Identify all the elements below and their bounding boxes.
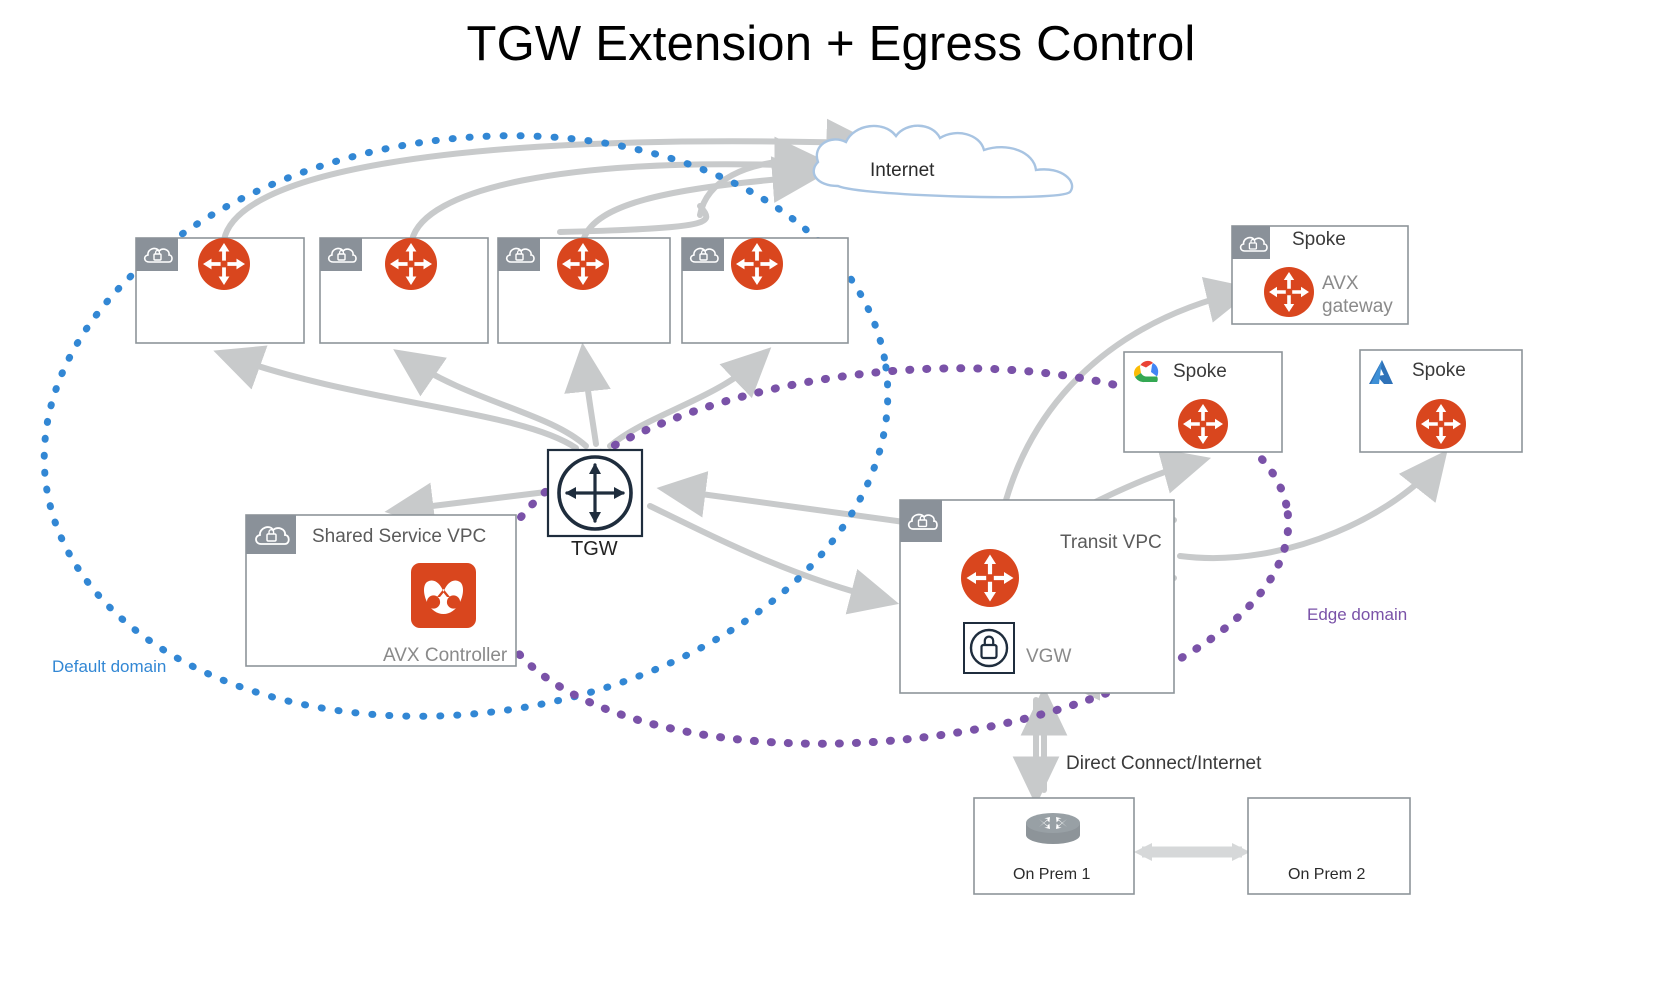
egress-vpc-2[interactable] (320, 238, 488, 343)
egress-vpc-1[interactable] (136, 238, 304, 343)
diagram-canvas: TGW Extension + Egress Control (0, 0, 1662, 984)
transit-vpc-title: Transit VPC (1060, 532, 1162, 554)
avx-gateway-icon[interactable] (385, 238, 437, 290)
avx-gateway-icon[interactable] (1178, 399, 1228, 449)
spoke-azure-title: Spoke (1412, 360, 1466, 382)
spoke-gcp-title: Spoke (1173, 361, 1227, 383)
edge-domain-label: Edge domain (1307, 605, 1407, 625)
tgw-label: TGW (571, 538, 618, 561)
direct-connect-label: Direct Connect/Internet (1066, 753, 1261, 775)
default-domain-label: Default domain (52, 657, 166, 677)
egress-vpc-4[interactable] (682, 238, 848, 343)
tgw-node[interactable] (548, 450, 642, 536)
page-title: TGW Extension + Egress Control (0, 16, 1662, 72)
node-layer (0, 0, 1662, 984)
internet-cloud (814, 126, 1072, 197)
egress-vpc-group (136, 238, 848, 343)
spoke-aws-caption-line2: gateway (1322, 295, 1393, 318)
avx-gateway-icon[interactable] (557, 238, 609, 290)
transit-gateway-icon (559, 457, 631, 529)
internet-label: Internet (870, 160, 934, 182)
shared-service-vpc-title: Shared Service VPC (312, 526, 486, 548)
avx-gateway-icon[interactable] (961, 549, 1019, 607)
on-prem-1-label: On Prem 1 (1013, 866, 1090, 884)
aviatrix-controller-icon[interactable] (411, 563, 476, 628)
egress-vpc-3[interactable] (498, 238, 670, 343)
spoke-aws-caption-line1: AVX (1322, 272, 1359, 295)
avx-gateway-icon[interactable] (198, 238, 250, 290)
vgw-label: VGW (1026, 645, 1071, 668)
avx-gateway-icon[interactable] (1264, 267, 1314, 317)
vgw-node[interactable] (964, 623, 1014, 673)
on-prem-2-label: On Prem 2 (1288, 866, 1365, 884)
avx-controller-label: AVX Controller (383, 644, 507, 667)
avx-gateway-icon[interactable] (731, 238, 783, 290)
router-icon (1026, 813, 1080, 844)
avx-gateway-icon[interactable] (1416, 399, 1466, 449)
spoke-aws-title: Spoke (1292, 229, 1346, 251)
